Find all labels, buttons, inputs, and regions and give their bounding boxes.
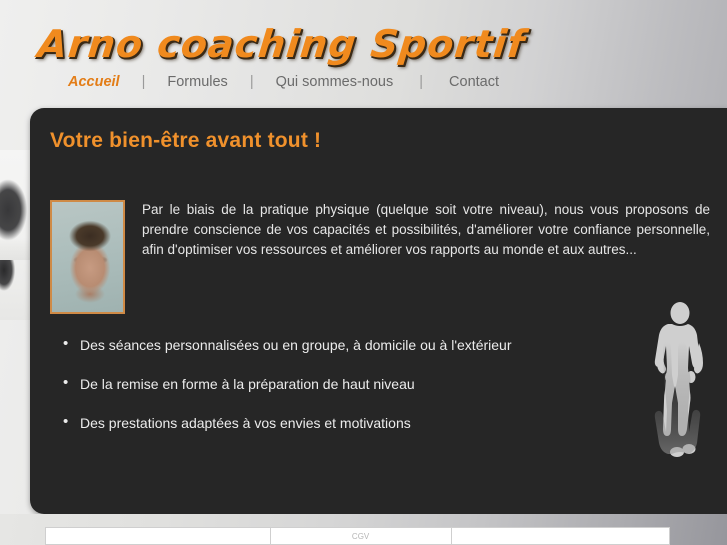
services-list: Des séances personnalisées ou en groupe,…: [50, 336, 670, 453]
list-item: Des séances personnalisées ou en groupe,…: [50, 336, 670, 354]
footer-cell-right: [451, 528, 669, 545]
table-row: CGV: [46, 528, 670, 545]
content-panel: Votre bien-être avant tout ! Par le biai…: [30, 108, 727, 514]
nav-item-formules[interactable]: Formules: [167, 74, 227, 90]
nav-item-accueil[interactable]: Accueil: [68, 74, 120, 90]
nav-separator: |: [250, 74, 254, 90]
nav-separator: |: [419, 74, 423, 90]
page-title: Votre bien-être avant tout !: [50, 129, 321, 153]
footer-cell-left: [46, 528, 271, 545]
footer-cell-cgv[interactable]: CGV: [270, 528, 451, 545]
main-navigation: Accueil | Formules | Qui sommes-nous | C…: [68, 74, 499, 90]
site-header: Arno coaching Sportif Accueil | Formules…: [0, 0, 727, 108]
runner-silhouette-icon: [647, 299, 709, 514]
page-root: Arno coaching Sportif Accueil | Formules…: [0, 0, 727, 545]
list-item: Des prestations adaptées à vos envies et…: [50, 414, 670, 432]
intro-section: Par le biais de la pratique physique (qu…: [50, 200, 710, 314]
footer-table: CGV: [45, 527, 670, 545]
nav-item-contact[interactable]: Contact: [449, 74, 499, 90]
nav-separator: |: [142, 74, 146, 90]
intro-paragraph: Par le biais de la pratique physique (qu…: [142, 200, 710, 260]
list-item: De la remise en forme à la préparation d…: [50, 375, 670, 393]
site-logo[interactable]: Arno coaching Sportif: [36, 22, 528, 66]
coach-portrait-image: [50, 200, 125, 314]
nav-item-qui-sommes-nous[interactable]: Qui sommes-nous: [276, 74, 394, 90]
